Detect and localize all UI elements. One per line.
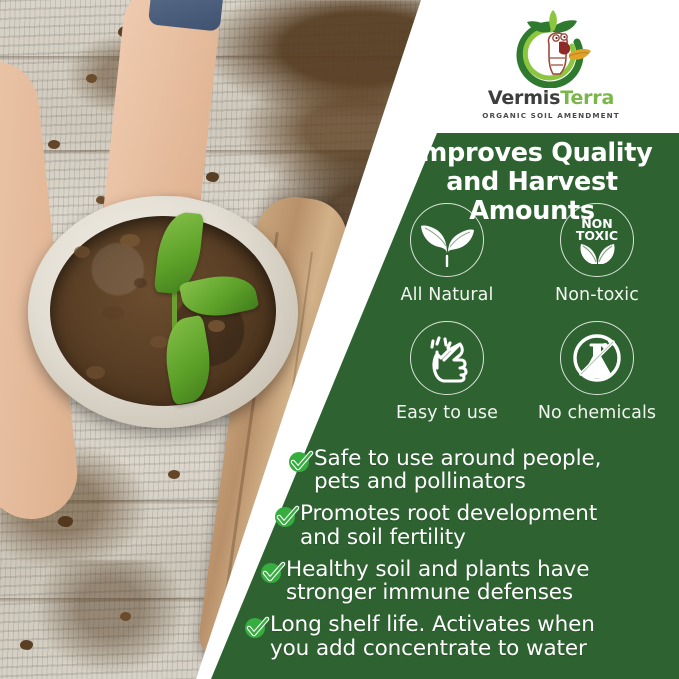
green-check-icon xyxy=(288,450,314,474)
benefit-line-1: Safe to use around people, xyxy=(314,446,601,471)
snapping-fingers-hand-icon xyxy=(410,321,484,395)
benefit-line-2: and soil fertility xyxy=(300,525,466,550)
benefit-line-1: Long shelf life. Activates when xyxy=(270,612,595,637)
benefits-list: Safe to use around people, pets and poll… xyxy=(228,447,674,669)
benefit-text: Long shelf life. Activates when you add … xyxy=(270,613,595,659)
list-item: Safe to use around people, pets and poll… xyxy=(288,447,674,493)
benefit-line-2: stronger immune defenses xyxy=(286,580,573,605)
feature-all-natural: All Natural xyxy=(372,203,522,305)
feature-label: No chemicals xyxy=(522,403,672,423)
no-chemicals-flask-prohibited-icon xyxy=(560,321,634,395)
svg-text:TOXIC: TOXIC xyxy=(576,228,618,243)
feature-no-chemicals: No chemicals xyxy=(522,321,672,423)
worm-leaf-circle-logo-icon xyxy=(503,8,599,88)
green-check-icon xyxy=(260,561,286,585)
benefit-line-1: Promotes root development xyxy=(300,501,597,526)
benefit-text: Safe to use around people, pets and poll… xyxy=(314,447,601,493)
headline-line-1: Improves Quality xyxy=(396,139,668,168)
benefit-line-1: Healthy soil and plants have xyxy=(286,557,589,582)
feature-label: Easy to use xyxy=(372,403,522,423)
brand-wordmark: VermisTerra xyxy=(476,89,626,108)
brand-tagline: ORGANIC SOIL AMENDMENT xyxy=(476,111,626,120)
list-item: Healthy soil and plants have stronger im… xyxy=(260,558,674,604)
green-check-icon xyxy=(244,616,270,640)
feature-non-toxic: NON TOXIC Non-toxic xyxy=(522,203,672,305)
feature-label: Non-toxic xyxy=(522,285,672,305)
brand-logo: VermisTerra ORGANIC SOIL AMENDMENT xyxy=(476,8,626,126)
benefit-text: Healthy soil and plants have stronger im… xyxy=(286,558,589,604)
plant-pot xyxy=(28,196,298,428)
benefit-line-2: pets and pollinators xyxy=(314,469,526,494)
brand-name-part1: Vermis xyxy=(488,87,560,109)
list-item: Promotes root development and soil ferti… xyxy=(274,502,674,548)
feature-easy-to-use: Easy to use xyxy=(372,321,522,423)
list-item: Long shelf life. Activates when you add … xyxy=(244,613,674,659)
benefit-line-2: you add concentrate to water xyxy=(270,636,587,661)
product-infographic: VermisTerra ORGANIC SOIL AMENDMENT Impro… xyxy=(0,0,679,679)
seedling-leaves-icon xyxy=(410,203,484,277)
brand-name-part2: Terra xyxy=(560,87,614,109)
feature-icon-grid: All Natural NON TOXIC Non-toxic xyxy=(372,203,672,423)
benefit-text: Promotes root development and soil ferti… xyxy=(300,502,597,548)
non-toxic-leaves-icon: NON TOXIC xyxy=(560,203,634,277)
feature-label: All Natural xyxy=(372,285,522,305)
green-check-icon xyxy=(274,505,300,529)
